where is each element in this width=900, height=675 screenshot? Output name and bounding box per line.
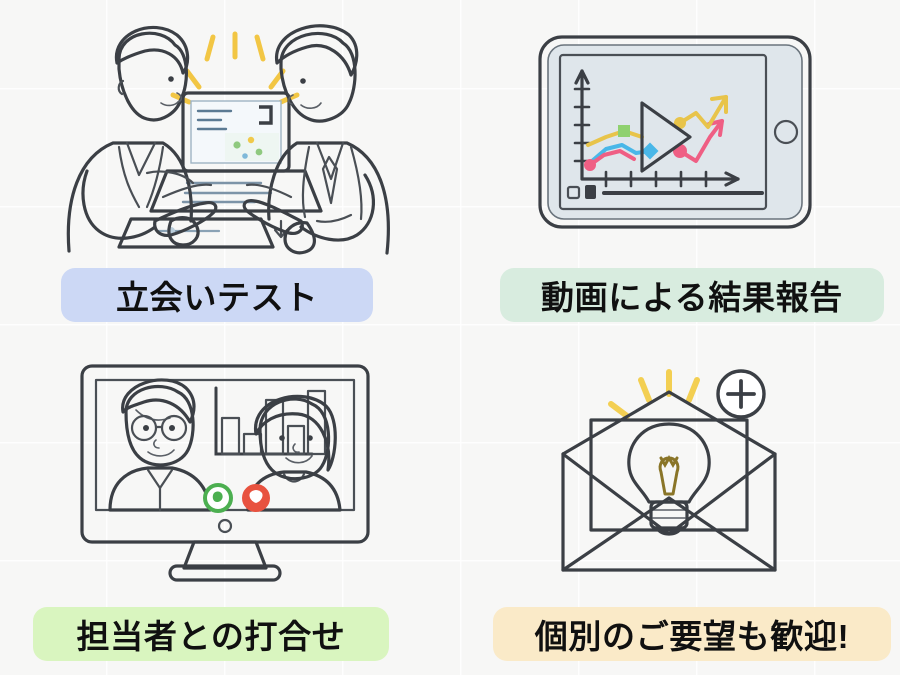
illustration-monitor-meeting	[0, 338, 450, 607]
custom-request-artwork	[545, 358, 805, 588]
envelope-front	[563, 454, 775, 570]
illustration-two-lab-engineers	[0, 0, 450, 268]
monitor-stand	[184, 542, 266, 568]
envelope-letter	[591, 420, 747, 530]
sparkle-rays-icon	[611, 372, 697, 416]
card-witness-test[interactable]: 立会いテスト	[0, 0, 450, 338]
plus-circle-icon[interactable]	[718, 371, 764, 417]
card-label-custom-request[interactable]: 個別のご要望も歓迎!	[493, 607, 891, 661]
card-meeting[interactable]: 担当者との打合せ	[0, 338, 450, 675]
card-label-meeting[interactable]: 担当者との打合せ	[33, 607, 389, 661]
service-card-grid: 立会いテスト	[0, 0, 900, 675]
meeting-artwork	[70, 358, 380, 588]
illustration-tablet-video	[450, 0, 900, 268]
witness-test-artwork	[35, 7, 415, 262]
card-video-report[interactable]: 動画による結果報告	[450, 0, 900, 338]
end-call-button[interactable]	[243, 485, 269, 511]
card-custom-request[interactable]: 個別のご要望も歓迎!	[450, 338, 900, 675]
participant-man-with-glasses	[110, 379, 210, 509]
monitor-power-led	[219, 520, 231, 532]
card-label-video-report[interactable]: 動画による結果報告	[500, 268, 884, 322]
laptop-report	[119, 93, 321, 247]
accept-call-button[interactable]	[205, 485, 231, 511]
video-report-artwork	[530, 27, 820, 242]
illustration-envelope-idea	[450, 338, 900, 607]
card-label-witness-test[interactable]: 立会いテスト	[61, 268, 373, 322]
